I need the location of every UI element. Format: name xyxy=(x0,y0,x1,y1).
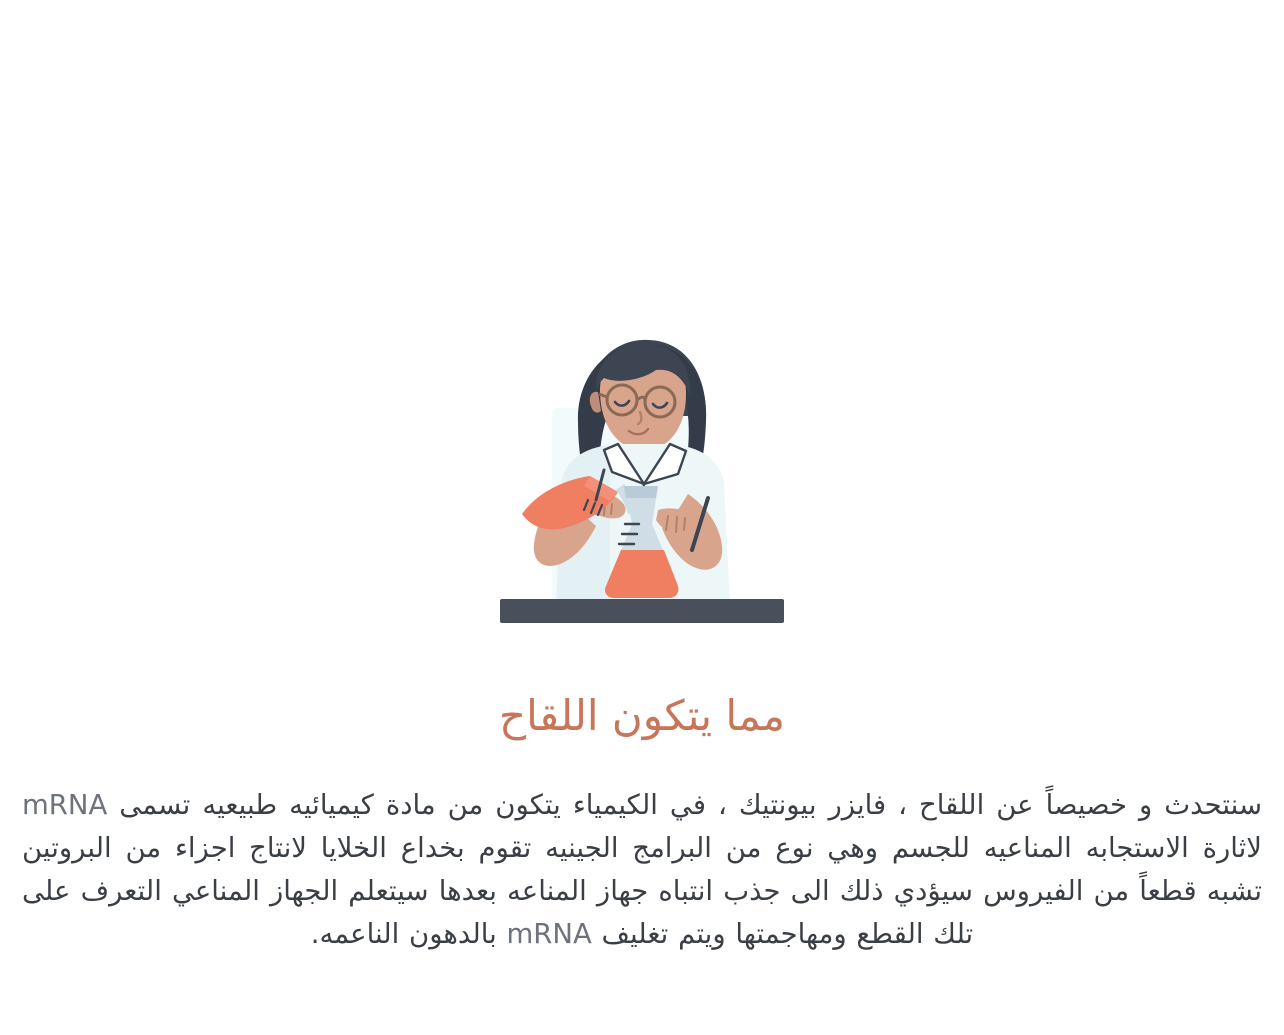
page-title: مما يتكون اللقاح xyxy=(0,690,1284,743)
flask-neck xyxy=(624,486,658,498)
scientist-pouring-flask-illustration xyxy=(492,318,792,628)
body-segment-mrna-2: mRNA xyxy=(507,918,592,950)
body-paragraph: سنتحدث و خصيصاً عن اللقاح ، فايزر بيونتي… xyxy=(22,784,1262,956)
body-segment-arabic-2: لاثارة الاستجابه المناعيه للجسم وهي نوع … xyxy=(22,832,1262,950)
lab-bench xyxy=(500,599,784,623)
body-segment-mrna-1: mRNA xyxy=(22,789,107,821)
illustration-container xyxy=(0,318,1284,628)
slide-page: مما يتكون اللقاح سنتحدث و خصيصاً عن اللق… xyxy=(0,0,1284,1035)
body-segment-arabic-1: سنتحدث و خصيصاً عن اللقاح ، فايزر بيونتي… xyxy=(107,789,1262,821)
body-segment-arabic-3: بالدهون الناعمه. xyxy=(311,918,507,950)
